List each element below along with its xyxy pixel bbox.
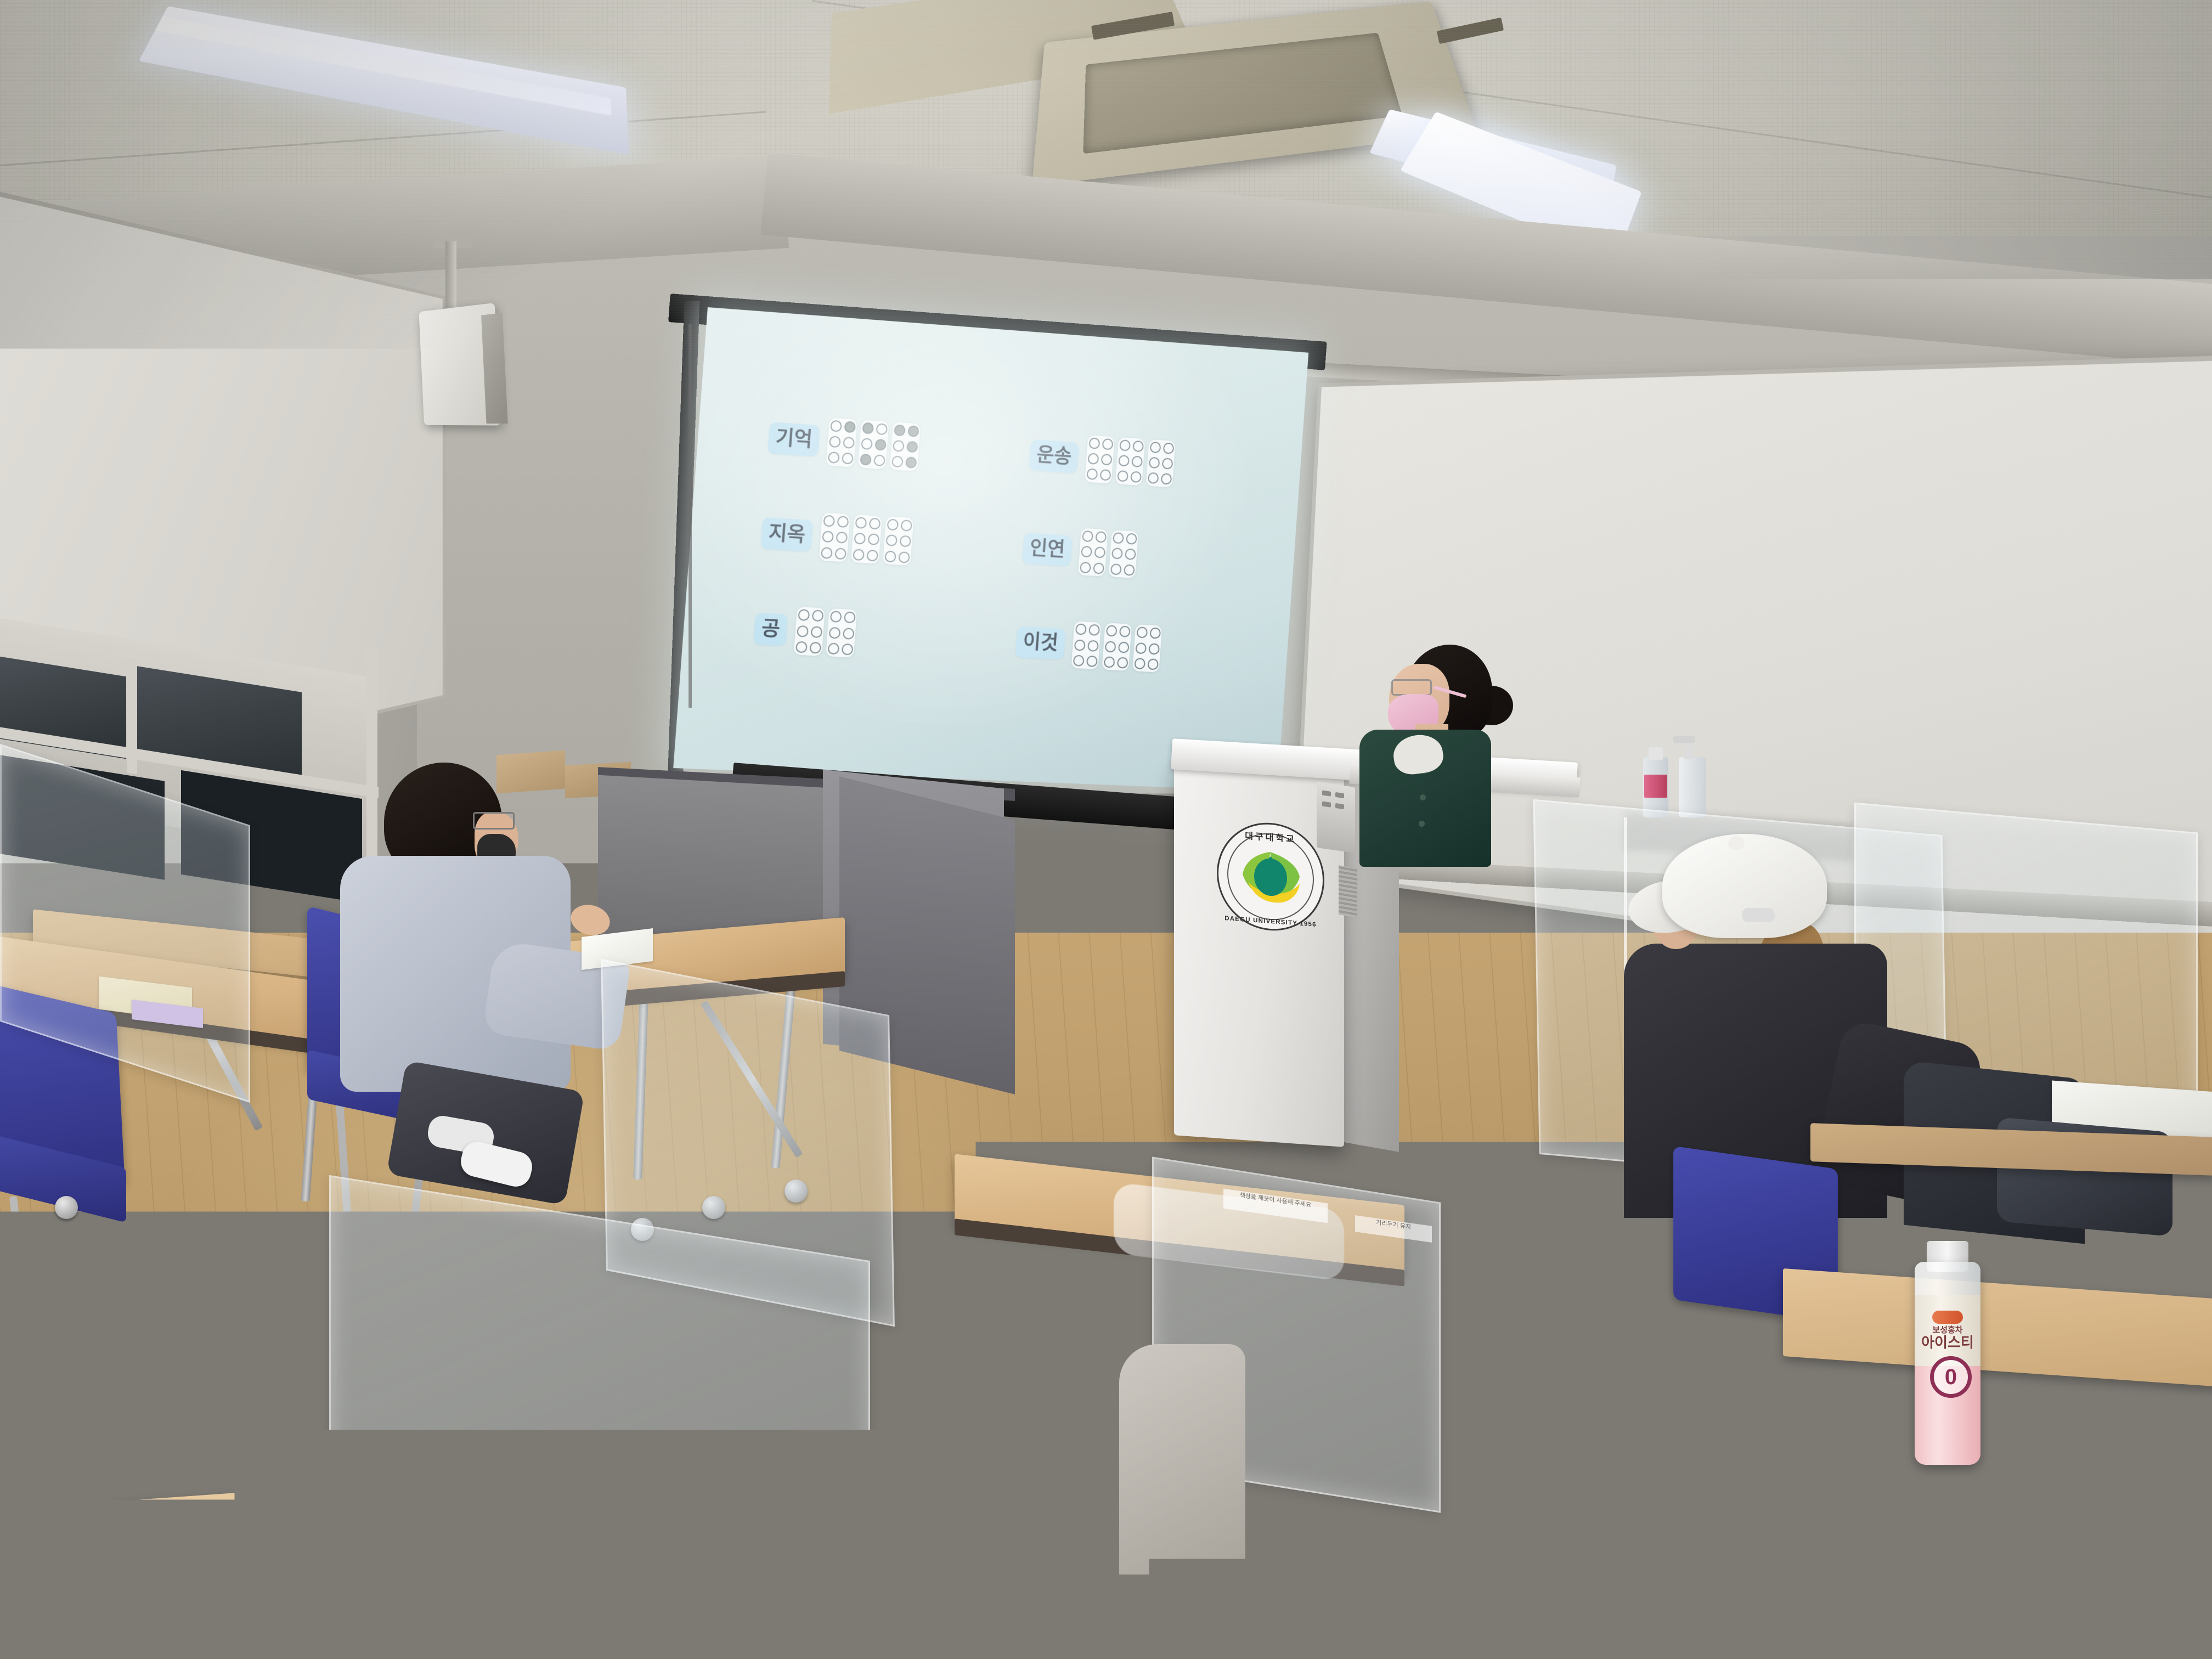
braille-dot-empty[interactable] bbox=[861, 438, 873, 450]
braille-dot-empty[interactable] bbox=[1074, 639, 1085, 651]
braille-dot-empty[interactable] bbox=[795, 641, 807, 653]
braille-dot-empty[interactable] bbox=[1075, 624, 1086, 635]
lectern-button[interactable] bbox=[1322, 801, 1331, 807]
braille-dot-empty[interactable] bbox=[900, 520, 912, 532]
drink-bottle-cap bbox=[1649, 747, 1663, 760]
braille-dot-empty[interactable] bbox=[1117, 471, 1128, 483]
braille-dot-filled[interactable] bbox=[862, 422, 874, 434]
braille-dot-empty[interactable] bbox=[1086, 656, 1098, 667]
braille-dot-empty[interactable] bbox=[1113, 532, 1124, 544]
tea-brand-mark bbox=[1932, 1311, 1963, 1324]
braille-dot-empty[interactable] bbox=[1073, 655, 1084, 667]
braille-dot-empty[interactable] bbox=[884, 550, 896, 562]
braille-dot-empty[interactable] bbox=[1086, 469, 1098, 481]
braille-dot-filled[interactable] bbox=[844, 421, 856, 433]
braille-dot-empty[interactable] bbox=[1124, 564, 1135, 575]
cardigan-button bbox=[1420, 794, 1426, 800]
braille-dot-empty[interactable] bbox=[899, 535, 911, 548]
braille-dot-empty[interactable] bbox=[853, 549, 865, 561]
braille-dot-empty[interactable] bbox=[836, 532, 848, 544]
braille-dot-empty[interactable] bbox=[873, 455, 885, 467]
braille-cell[interactable] bbox=[883, 516, 913, 565]
braille-dot-empty[interactable] bbox=[1094, 547, 1105, 558]
tea-product-name: 아이스티 bbox=[1921, 1336, 1974, 1350]
braille-dot-empty[interactable] bbox=[842, 453, 854, 465]
eyeglasses bbox=[1391, 679, 1432, 696]
braille-cell[interactable] bbox=[794, 607, 825, 656]
tea-zero-calorie-badge: 0 bbox=[1930, 1356, 1972, 1398]
hair-tie bbox=[1742, 908, 1775, 922]
lectern-button[interactable] bbox=[1335, 803, 1344, 809]
braille-dot-empty[interactable] bbox=[1147, 472, 1159, 484]
braille-word-row: 이것 bbox=[1013, 602, 1255, 693]
braille-dot-empty[interactable] bbox=[868, 518, 881, 530]
window-mullion bbox=[366, 646, 377, 889]
braille-cell[interactable] bbox=[1078, 528, 1108, 577]
braille-dot-empty[interactable] bbox=[866, 550, 878, 562]
braille-cell[interactable] bbox=[851, 515, 882, 564]
braille-word-chip: 지옥 bbox=[760, 517, 813, 552]
braille-dot-filled[interactable] bbox=[860, 454, 872, 466]
braille-word-chip: 이것 bbox=[1015, 627, 1066, 660]
hand-sanitizer-bottle bbox=[1679, 757, 1706, 817]
desk-caster bbox=[181, 1358, 204, 1381]
braille-dot-empty[interactable] bbox=[1134, 658, 1145, 669]
projection-screen: 기억운송지옥인연공이것 bbox=[673, 307, 1308, 792]
cardboard-box bbox=[496, 751, 565, 794]
braille-cell[interactable] bbox=[1071, 622, 1102, 670]
braille-dot-empty[interactable] bbox=[1118, 641, 1129, 653]
braille-dot-empty[interactable] bbox=[1161, 458, 1173, 469]
braille-dot-empty[interactable] bbox=[1119, 439, 1131, 452]
braille-dot-empty[interactable] bbox=[821, 547, 833, 559]
braille-dot-empty[interactable] bbox=[1103, 656, 1115, 668]
braille-dot-filled[interactable] bbox=[907, 425, 919, 437]
braille-dot-empty[interactable] bbox=[1148, 643, 1160, 654]
braille-cell-group bbox=[819, 513, 914, 566]
braille-dot-empty[interactable] bbox=[1088, 624, 1100, 636]
braille-cell[interactable] bbox=[1085, 435, 1115, 483]
braille-dot-empty[interactable] bbox=[1160, 473, 1172, 485]
braille-dot-empty[interactable] bbox=[1081, 546, 1092, 557]
braille-dot-empty[interactable] bbox=[854, 533, 866, 545]
braille-word-row: 운송 bbox=[1027, 415, 1268, 509]
braille-dot-empty[interactable] bbox=[1132, 441, 1144, 453]
braille-dot-empty[interactable] bbox=[1102, 438, 1113, 450]
braille-dot-empty[interactable] bbox=[830, 420, 842, 432]
bottle-label-upper: 보성홍차 아이스티 bbox=[1915, 1295, 1980, 1366]
braille-dot-empty[interactable] bbox=[855, 517, 867, 529]
braille-dot-empty[interactable] bbox=[797, 625, 809, 637]
eyeglasses bbox=[473, 812, 515, 830]
tea-brand-name: 보성홍차 bbox=[1932, 1326, 1962, 1334]
braille-dot-empty[interactable] bbox=[1082, 531, 1093, 542]
braille-dot-empty[interactable] bbox=[1095, 531, 1107, 543]
braille-dot-empty[interactable] bbox=[823, 515, 835, 527]
braille-word-chip: 기억 bbox=[768, 422, 820, 457]
braille-dot-empty[interactable] bbox=[828, 627, 840, 639]
braille-dot-empty[interactable] bbox=[1135, 642, 1147, 654]
braille-cell[interactable] bbox=[1109, 530, 1138, 578]
speaker-arm bbox=[445, 241, 456, 313]
braille-dot-empty[interactable] bbox=[1087, 640, 1099, 651]
braille-cell-group bbox=[1078, 528, 1138, 578]
braille-word-row: 인연 bbox=[1020, 509, 1261, 601]
braille-dot-empty[interactable] bbox=[841, 644, 853, 656]
projector-screen-cord bbox=[689, 324, 692, 708]
braille-dot-empty[interactable] bbox=[837, 516, 849, 528]
braille-dot-empty[interactable] bbox=[1130, 471, 1142, 483]
braille-dot-empty[interactable] bbox=[1099, 469, 1111, 481]
braille-cell-group bbox=[1085, 435, 1175, 487]
braille-dot-empty[interactable] bbox=[809, 642, 821, 654]
drink-bottle-label bbox=[1644, 775, 1667, 798]
hair-highlight bbox=[1234, 933, 1333, 1273]
braille-slide: 기억운송지옥인연공이것 bbox=[673, 307, 1308, 792]
braille-dot-empty[interactable] bbox=[1104, 641, 1116, 652]
braille-dot-empty[interactable] bbox=[1080, 562, 1091, 573]
braille-word-chip: 인연 bbox=[1022, 533, 1073, 566]
braille-dot-empty[interactable] bbox=[1149, 442, 1161, 454]
braille-dot-empty[interactable] bbox=[811, 610, 823, 622]
braille-dot-empty[interactable] bbox=[843, 437, 855, 449]
braille-dot-filled[interactable] bbox=[874, 439, 887, 451]
braille-cell-group bbox=[794, 607, 857, 658]
braille-dot-empty[interactable] bbox=[1101, 454, 1112, 466]
braille-dot-empty[interactable] bbox=[842, 628, 854, 640]
braille-cell[interactable] bbox=[819, 513, 850, 562]
lectern-button[interactable] bbox=[1322, 790, 1331, 796]
desk-caster bbox=[55, 1196, 78, 1219]
braille-dot-empty[interactable] bbox=[885, 535, 898, 547]
braille-dot-empty[interactable] bbox=[1126, 533, 1137, 545]
braille-cell[interactable] bbox=[890, 422, 921, 471]
braille-dot-empty[interactable] bbox=[810, 626, 822, 638]
classroom-photo: 기억운송지옥인연공이것 bbox=[0, 0, 2212, 1659]
braille-cell[interactable] bbox=[858, 420, 889, 469]
braille-dot-empty[interactable] bbox=[822, 531, 834, 543]
braille-dot-empty[interactable] bbox=[1119, 626, 1130, 637]
white-baseball-cap bbox=[1662, 834, 1827, 938]
braille-dot-empty[interactable] bbox=[834, 548, 847, 560]
braille-dot-empty[interactable] bbox=[1136, 627, 1148, 639]
braille-cell[interactable] bbox=[826, 417, 857, 467]
braille-dot-empty[interactable] bbox=[891, 456, 904, 468]
cap-top-button bbox=[1728, 836, 1745, 850]
braille-cell[interactable] bbox=[1102, 623, 1132, 671]
cardigan-button bbox=[1419, 821, 1425, 827]
braille-dot-filled[interactable] bbox=[906, 441, 918, 453]
braille-dot-empty[interactable] bbox=[1125, 549, 1136, 560]
braille-dot-empty[interactable] bbox=[867, 534, 879, 546]
braille-dot-empty[interactable] bbox=[844, 612, 856, 624]
braille-dot-empty[interactable] bbox=[1118, 455, 1130, 467]
braille-dot-empty[interactable] bbox=[1088, 437, 1100, 449]
braille-dot-empty[interactable] bbox=[1087, 453, 1099, 465]
braille-cell-group bbox=[826, 417, 921, 471]
braille-dot-empty[interactable] bbox=[1147, 658, 1159, 670]
acrylic-divider bbox=[285, 1465, 903, 1659]
braille-dot-empty[interactable] bbox=[829, 436, 841, 448]
braille-word-chip: 운송 bbox=[1029, 439, 1079, 473]
braille-word-row: 공 bbox=[752, 588, 1004, 681]
lectern-button[interactable] bbox=[1335, 792, 1344, 798]
braille-dot-empty[interactable] bbox=[898, 551, 910, 563]
braille-dot-empty[interactable] bbox=[1093, 562, 1104, 574]
braille-dot-empty[interactable] bbox=[1149, 628, 1161, 639]
braille-dot-filled[interactable] bbox=[905, 457, 917, 469]
sanitizer-nozzle bbox=[1673, 736, 1695, 743]
braille-dot-empty[interactable] bbox=[1105, 625, 1117, 637]
braille-dot-empty[interactable] bbox=[893, 440, 905, 452]
braille-cell-group bbox=[1071, 622, 1163, 673]
braille-dot-empty[interactable] bbox=[830, 611, 842, 623]
braille-word-row: 지옥 bbox=[759, 493, 1011, 588]
braille-dot-empty[interactable] bbox=[1131, 456, 1143, 468]
braille-dot-empty[interactable] bbox=[798, 610, 810, 622]
braille-cell[interactable] bbox=[1132, 624, 1162, 672]
braille-word-chip: 공 bbox=[753, 613, 788, 646]
braille-cell[interactable] bbox=[826, 608, 857, 658]
braille-word-grid: 기억운송지옥인연공이것 bbox=[752, 397, 1268, 693]
braille-dot-filled[interactable] bbox=[894, 424, 906, 436]
braille-dot-empty[interactable] bbox=[876, 423, 888, 435]
braille-dot-empty[interactable] bbox=[827, 643, 839, 655]
braille-dot-empty[interactable] bbox=[1111, 548, 1123, 560]
braille-word-row: 기억 bbox=[766, 397, 1017, 493]
braille-dot-empty[interactable] bbox=[1148, 457, 1160, 469]
braille-dot-empty[interactable] bbox=[887, 519, 899, 531]
braille-dot-empty[interactable] bbox=[1163, 442, 1174, 454]
braille-cell[interactable] bbox=[1115, 437, 1145, 486]
braille-dot-empty[interactable] bbox=[827, 452, 839, 464]
braille-cell[interactable] bbox=[1146, 439, 1176, 487]
braille-dot-empty[interactable] bbox=[1116, 657, 1128, 669]
braille-dot-empty[interactable] bbox=[1110, 563, 1121, 575]
